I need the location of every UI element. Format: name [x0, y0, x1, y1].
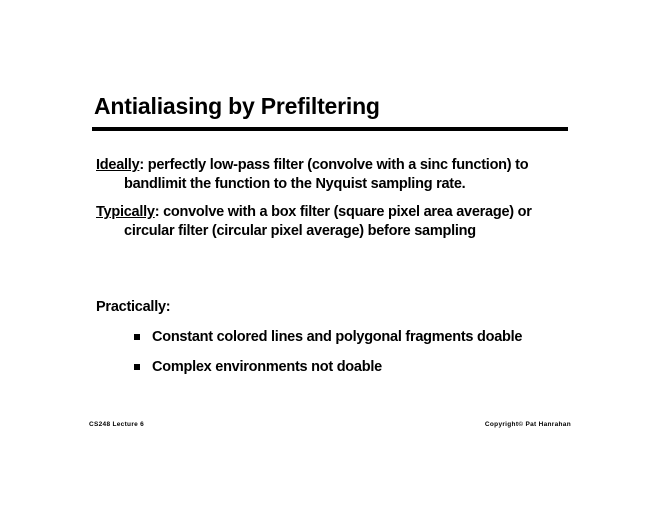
lead-separator-ideally: : [139, 157, 147, 173]
paragraph-text-typically: convolve with a box filter (square pixel… [124, 204, 532, 239]
list-item-label: Complex environments not doable [152, 359, 382, 375]
lead-word-typically: Typically [96, 204, 155, 220]
list-item-label: Constant colored lines and polygonal fra… [152, 329, 522, 345]
square-bullet-icon [134, 364, 140, 370]
lead-word-ideally: Ideally [96, 157, 139, 173]
list-item: Constant colored lines and polygonal fra… [96, 328, 582, 346]
lead-separator-typically: : [155, 204, 163, 220]
bullet-paragraph-typically: Typically: convolve with a box filter (s… [96, 203, 582, 241]
footer-copyright-label: Copyright© Pat Hanrahan [485, 421, 571, 428]
practically-list: Constant colored lines and polygonal fra… [96, 328, 582, 376]
slide: Antialiasing by Prefiltering Ideally: pe… [0, 0, 660, 510]
square-bullet-icon [134, 334, 140, 340]
paragraph-text-ideally: perfectly low-pass filter (convolve with… [124, 157, 528, 192]
page-title: Antialiasing by Prefiltering [94, 92, 380, 120]
footer-lecture-label: CS248 Lecture 6 [89, 421, 144, 428]
bullet-paragraph-ideally: Ideally: perfectly low-pass filter (conv… [96, 156, 582, 194]
practically-section: Practically: Constant colored lines and … [96, 298, 582, 388]
title-divider [92, 127, 568, 131]
practically-heading: Practically: [96, 298, 582, 317]
body-content: Ideally: perfectly low-pass filter (conv… [96, 156, 582, 250]
list-item: Complex environments not doable [96, 358, 582, 376]
